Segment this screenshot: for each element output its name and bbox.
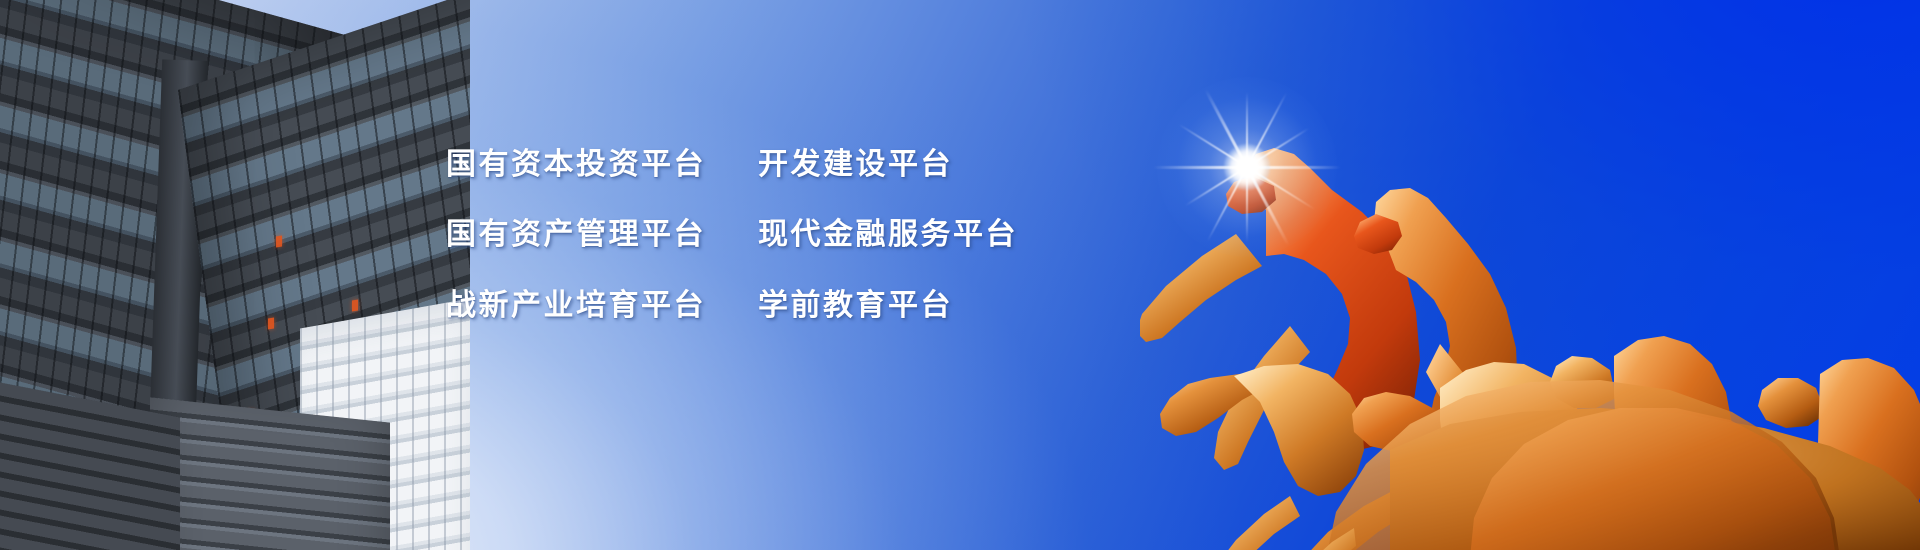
- window-accent-light: [268, 318, 274, 330]
- platform-row: 国有资本投资平台 开发建设平台: [446, 146, 1006, 184]
- foreground-building-mid: [150, 397, 390, 550]
- window-accent-light: [352, 300, 358, 312]
- platform-list: 国有资本投资平台 开发建设平台 国有资产管理平台 现代金融服务平台 战新产业培育…: [446, 146, 1006, 325]
- platform-label: 国有资产管理平台: [446, 216, 758, 254]
- platform-label: 学前教育平台: [758, 287, 953, 325]
- platform-label: 现代金融服务平台: [758, 216, 1018, 254]
- platform-row: 国有资产管理平台 现代金融服务平台: [446, 216, 1006, 254]
- platform-row: 战新产业培育平台 学前教育平台: [446, 287, 1006, 325]
- hero-banner: 国有资本投资平台 开发建设平台 国有资产管理平台 现代金融服务平台 战新产业培育…: [0, 0, 1920, 550]
- office-building-image: [0, 0, 470, 550]
- window-accent-light: [276, 236, 282, 248]
- platform-label: 开发建设平台: [758, 146, 953, 184]
- platform-label: 国有资本投资平台: [446, 146, 758, 184]
- platform-label: 战新产业培育平台: [446, 287, 758, 325]
